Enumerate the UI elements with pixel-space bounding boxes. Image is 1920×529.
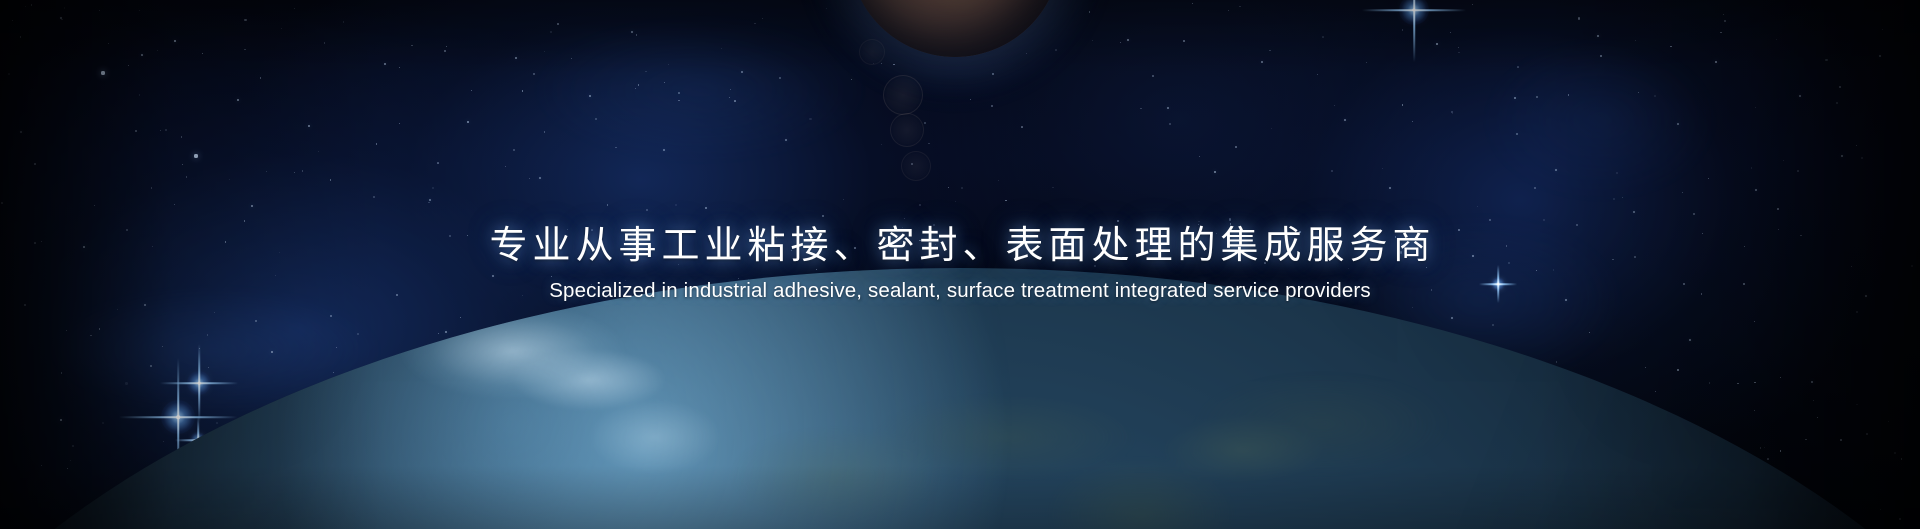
lens-flare-bokeh	[859, 39, 885, 65]
headline-english: Specialized in industrial adhesive, seal…	[0, 278, 1920, 304]
lens-flare-bokeh	[890, 113, 924, 147]
hero-banner: 专业从事工业粘接、密封、表面处理的集成服务商 Specialized in in…	[0, 0, 1920, 529]
headline-chinese: 专业从事工业粘接、密封、表面处理的集成服务商	[0, 222, 1920, 270]
headline-block: 专业从事工业粘接、密封、表面处理的集成服务商 Specialized in in…	[0, 222, 1920, 304]
lens-flare-bokeh	[901, 151, 931, 181]
lens-flare-bokeh	[883, 75, 923, 115]
